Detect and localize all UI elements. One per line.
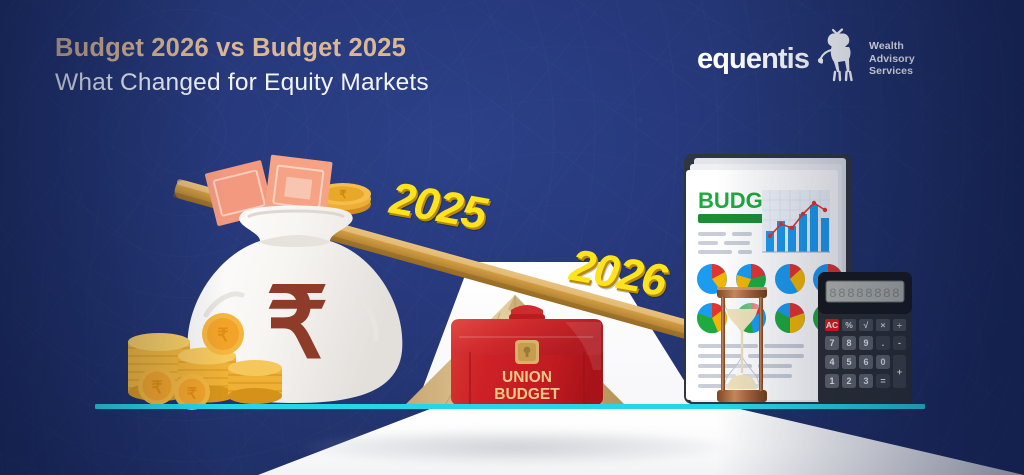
budget-comparison-banner: Budget 2026 vs Budget 2025 What Changed … xyxy=(0,0,1024,475)
edge-vignette xyxy=(0,0,1024,475)
